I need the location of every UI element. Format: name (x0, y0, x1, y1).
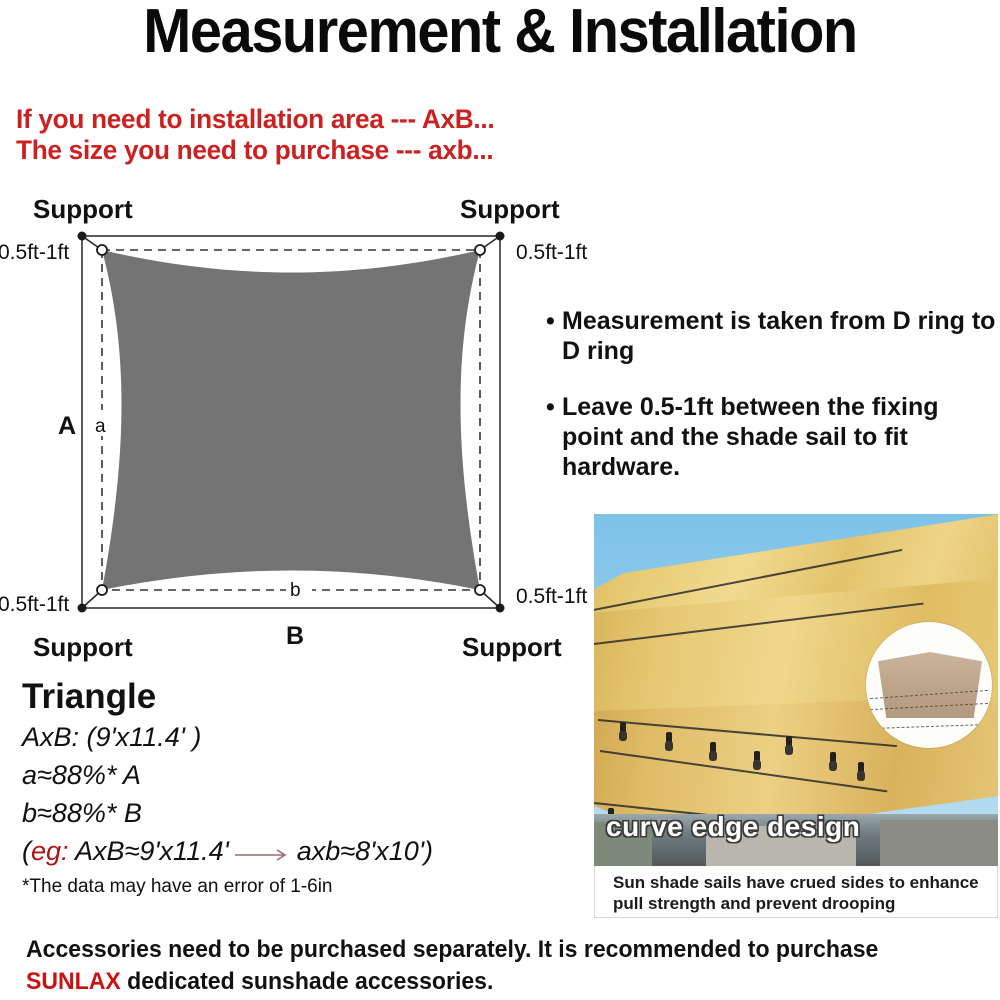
string-light-bulb (754, 751, 760, 762)
support-point-bl (78, 604, 87, 613)
photo-overlay-label: curve edge design (606, 811, 860, 843)
support-point-tr (496, 232, 505, 241)
string-light-bulb (620, 722, 626, 733)
lead-line-1: If you need to installation area --- AxB… (16, 104, 494, 135)
instruction-text: Leave 0.5-1ft between the fixing point a… (562, 392, 998, 482)
d-ring-tr (475, 245, 485, 255)
label-gap-bottom-left: 0.5ft-1ft (0, 593, 69, 617)
label-gap-top-left: 0.5ft-1ft (0, 241, 69, 265)
string-light-bulb (710, 742, 716, 753)
label-width-inner: b (290, 580, 301, 602)
shade-sail-diagram: Support Support Support Support 0.5ft-1f… (0, 188, 580, 663)
lead-text-block: If you need to installation area --- AxB… (16, 104, 494, 166)
infographic-page: Measurement & Installation If you need t… (0, 0, 1000, 1000)
curve-edge-inset (866, 622, 992, 748)
triangle-error-note: *The data may have an error of 1-6in (22, 876, 582, 898)
string-light-bulb (858, 762, 864, 773)
example-result: axb≈8'x10') (297, 836, 433, 866)
label-height-inner: a (95, 416, 106, 438)
triangle-sizing-block: Triangle AxB: (9'x11.4' ) a≈88%* A b≈88%… (22, 676, 582, 898)
photo-caption: Sun shade sails have crued sides to enha… (594, 866, 998, 918)
d-ring-tl (97, 245, 107, 255)
instruction-text: Measurement is taken from D ring to D ri… (562, 306, 998, 366)
d-ring-br (475, 585, 485, 595)
triangle-formula-a: a≈88%* A (22, 756, 582, 794)
example-label: eg: (31, 836, 69, 866)
label-support-bottom-right: Support (462, 632, 562, 663)
shade-sail-shape (102, 250, 480, 590)
instructions-list: • Measurement is taken from D ring to D … (546, 306, 998, 508)
footer-line-2-rest: dedicated sunshade accessories. (121, 968, 494, 995)
footer-line-1: Accessories need to be purchased separat… (26, 934, 957, 966)
example-open-paren: ( (22, 836, 31, 866)
page-title: Measurement & Installation (35, 0, 965, 67)
example-source: AxB≈9'x11.4' (69, 836, 229, 866)
label-support-bottom-left: Support (33, 632, 133, 663)
label-width-outer: B (286, 622, 304, 651)
bullet-dot-icon: • (546, 392, 562, 482)
product-photo: curve edge design (594, 514, 998, 866)
triangle-heading: Triangle (22, 676, 582, 718)
list-item: • Leave 0.5-1ft between the fixing point… (546, 392, 998, 482)
background-building (880, 820, 998, 866)
label-gap-top-right: 0.5ft-1ft (516, 241, 587, 265)
triangle-dimensions: AxB: (9'x11.4' ) (22, 718, 582, 756)
lead-line-2: The size you need to purchase --- axb... (16, 135, 494, 166)
label-support-top-right: Support (460, 194, 560, 225)
triangle-example: (eg: AxB≈9'x11.4'axb≈8'x10') (22, 832, 582, 872)
brand-name: SUNLAX (26, 968, 121, 995)
string-light-bulb (830, 752, 836, 763)
label-support-top-left: Support (33, 194, 133, 225)
string-light-bulb (666, 732, 672, 743)
string-light-bulb (786, 736, 792, 747)
bullet-dot-icon: • (546, 306, 562, 366)
list-item: • Measurement is taken from D ring to D … (546, 306, 998, 366)
label-gap-bottom-right: 0.5ft-1ft (516, 585, 587, 609)
support-point-tl (78, 232, 87, 241)
footer-note: Accessories need to be purchased separat… (26, 934, 957, 998)
footer-line-2: SUNLAX dedicated sunshade accessories. (26, 966, 957, 998)
triangle-formula-b: b≈88%* B (22, 794, 582, 832)
d-ring-bl (97, 585, 107, 595)
inset-stitch-line (872, 724, 988, 729)
support-point-br (496, 604, 505, 613)
label-height-outer: A (58, 412, 76, 441)
arrow-right-icon (235, 834, 291, 872)
